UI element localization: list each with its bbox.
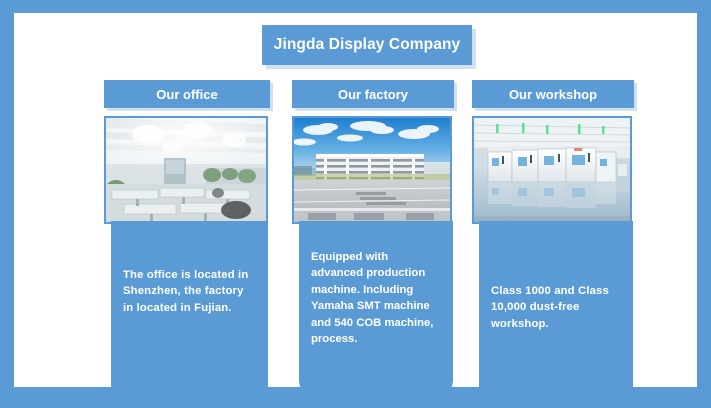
- slide-title-box: Jingda Display Company: [262, 25, 472, 65]
- office-photo: [104, 116, 268, 224]
- slide-content-area: Jingda Display Company Our office: [14, 13, 697, 387]
- factory-photo: [292, 116, 452, 224]
- office-body-text: The office is located in Shenzhen, the f…: [123, 267, 256, 316]
- workshop-body-text: Class 1000 and Class 10,000 dust-free wo…: [491, 283, 621, 332]
- office-photo-image: [106, 118, 266, 222]
- column-header-factory[interactable]: Our factory: [292, 80, 454, 108]
- column-header-office[interactable]: Our office: [104, 80, 270, 108]
- page-title: Jingda Display Company: [274, 36, 461, 54]
- workshop-photo: [472, 116, 632, 224]
- office-text-panel: The office is located in Shenzhen, the f…: [111, 221, 268, 405]
- column-header-workshop[interactable]: Our workshop: [472, 80, 634, 108]
- column-header-label: Our workshop: [509, 87, 597, 102]
- factory-body-text: Equipped with advanced production machin…: [311, 249, 441, 347]
- factory-photo-image: [294, 118, 450, 222]
- column-header-label: Our office: [156, 87, 217, 102]
- workshop-photo-image: [474, 118, 630, 222]
- column-header-label: Our factory: [338, 87, 408, 102]
- factory-text-panel: Equipped with advanced production machin…: [299, 221, 453, 400]
- slide-canvas: Jingda Display Company Our office: [0, 0, 711, 400]
- workshop-text-panel: Class 1000 and Class 10,000 dust-free wo…: [479, 221, 633, 408]
